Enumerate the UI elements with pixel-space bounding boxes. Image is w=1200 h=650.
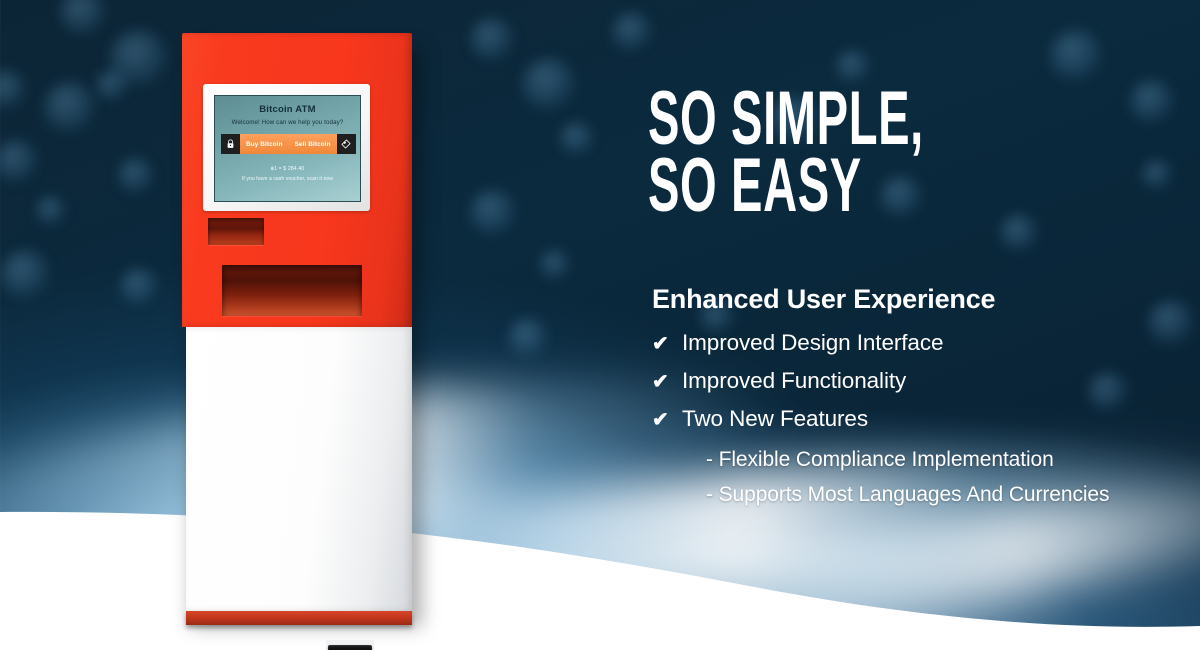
buy-bitcoin-label: Buy Bitcoin <box>240 134 289 154</box>
subheading: Enhanced User Experience <box>652 284 995 315</box>
kiosk-lower-body: DIGICCY ATM <box>186 327 412 611</box>
screen-welcome-text: Welcome! How can we help you today? <box>215 119 360 126</box>
list-item-label: Two New Features <box>682 406 868 432</box>
voucher-note-text: If you have a cash voucher, scan it now <box>215 176 360 182</box>
check-icon: ✔ <box>652 334 682 354</box>
list-item: ✔ Two New Features <box>652 406 1182 432</box>
screen-bezel: Bitcoin ATM Welcome! How can we help you… <box>203 84 370 211</box>
sublist-item: - Flexible Compliance Implementation <box>706 448 1200 472</box>
tag-icon <box>337 134 356 154</box>
sublist-item: - Supports Most Languages And Currencies <box>706 483 1200 507</box>
check-icon: ✔ <box>652 410 682 430</box>
page-title: SO SIMPLE, SO EASY <box>648 86 846 220</box>
atm-touchscreen[interactable]: Bitcoin ATM Welcome! How can we help you… <box>214 95 361 202</box>
promo-copy: SO SIMPLE, SO EASY Enhanced User Experie… <box>640 0 1185 650</box>
feature-sublist: - Flexible Compliance Implementation - S… <box>706 448 1200 518</box>
buy-bitcoin-button[interactable]: Buy Bitcoin <box>221 134 289 154</box>
screen-button-row: Buy Bitcoin Sell Bitcoin <box>221 134 354 154</box>
btc-rate-text: ฿1 = $ 284.40 <box>215 166 360 172</box>
promo-slide: Bitcoin ATM Welcome! How can we help you… <box>0 0 1200 650</box>
kiosk-upper-housing: Bitcoin ATM Welcome! How can we help you… <box>182 33 412 327</box>
atm-kiosk: Bitcoin ATM Welcome! How can we help you… <box>182 33 418 622</box>
headline-line-2: SO EASY <box>648 153 846 220</box>
screen-title: Bitcoin ATM <box>215 104 360 115</box>
sell-bitcoin-label: Sell Bitcoin <box>289 134 337 154</box>
list-item-label: Improved Functionality <box>682 368 906 394</box>
check-icon: ✔ <box>652 372 682 392</box>
cash-dispenser-tray[interactable] <box>222 265 362 316</box>
lock-icon <box>221 134 240 154</box>
bill-acceptor-slot[interactable] <box>208 218 264 245</box>
list-item: ✔ Improved Design Interface <box>652 330 1182 356</box>
sell-bitcoin-button[interactable]: Sell Bitcoin <box>289 134 356 154</box>
list-item: ✔ Improved Functionality <box>652 368 1182 394</box>
kiosk-base-plinth <box>186 611 412 625</box>
list-item-label: Improved Design Interface <box>682 330 943 356</box>
card-reader-slot[interactable] <box>328 645 372 650</box>
feature-list: ✔ Improved Design Interface ✔ Improved F… <box>652 330 1182 444</box>
